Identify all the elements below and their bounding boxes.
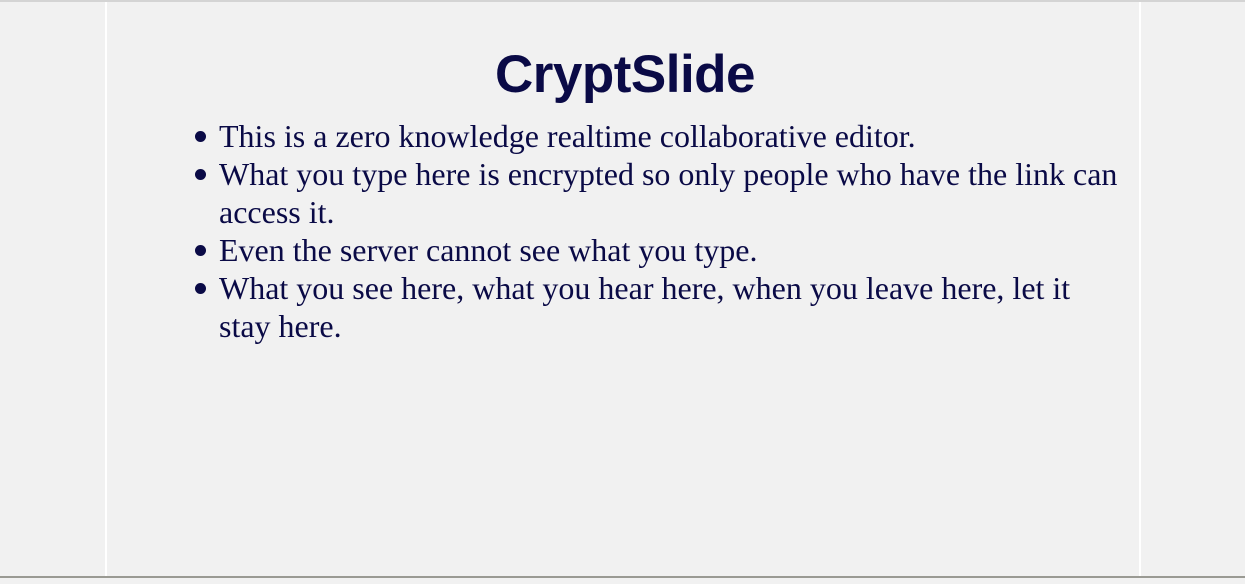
slide-bullet-list[interactable]: This is a zero knowledge realtime collab… [147, 117, 1122, 345]
list-item[interactable]: This is a zero knowledge realtime collab… [147, 117, 1122, 155]
list-item-text: This is a zero knowledge realtime collab… [219, 117, 1122, 155]
list-item[interactable]: What you see here, what you hear here, w… [147, 269, 1122, 345]
slide-canvas[interactable]: CryptSlide This is a zero knowledge real… [105, 2, 1141, 576]
disc-bullet-icon [195, 283, 206, 294]
list-item[interactable]: Even the server cannot see what you type… [147, 231, 1122, 269]
list-item-text: What you see here, what you hear here, w… [219, 269, 1122, 345]
disc-bullet-icon [195, 245, 206, 256]
disc-bullet-icon [195, 131, 206, 142]
slide-title[interactable]: CryptSlide [107, 44, 1143, 106]
bottom-divider [0, 576, 1245, 578]
list-item[interactable]: What you type here is encrypted so only … [147, 155, 1122, 231]
top-divider [0, 0, 1245, 2]
list-item-text: What you type here is encrypted so only … [219, 155, 1122, 231]
disc-bullet-icon [195, 169, 206, 180]
list-item-text: Even the server cannot see what you type… [219, 231, 1122, 269]
